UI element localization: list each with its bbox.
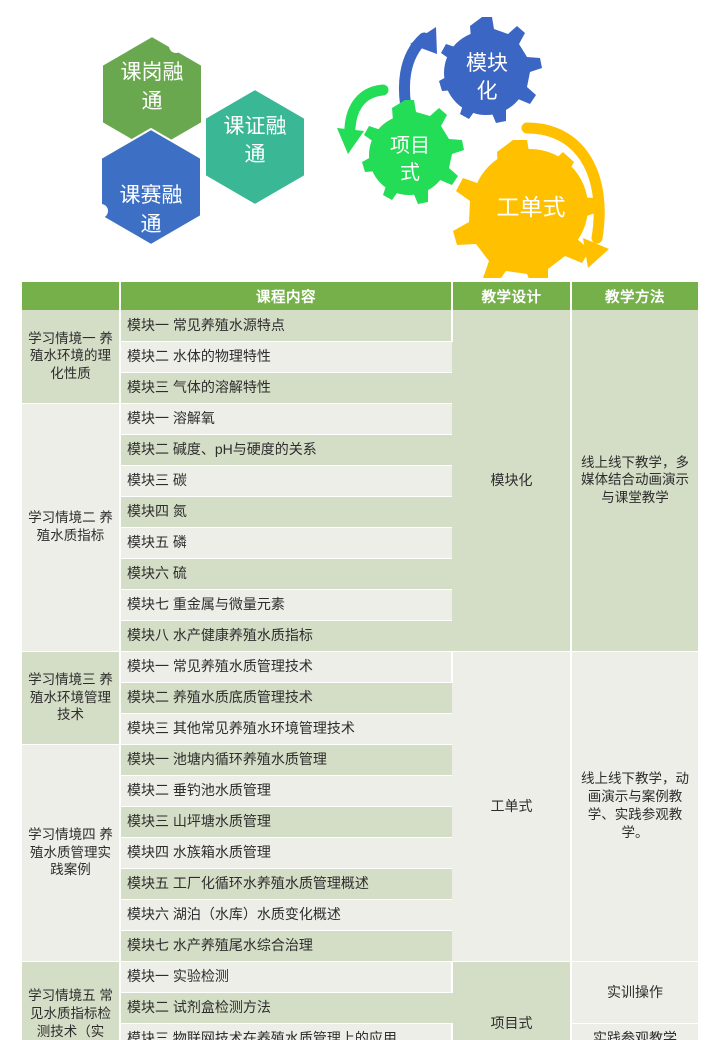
hexagon-label-line1: 课证融	[224, 115, 287, 138]
learning-situation-cell: 学习情境五 常见水质指标检测技术（实训）	[22, 961, 120, 1040]
table-header-row: 课程内容 教学设计 教学方法	[22, 282, 698, 310]
header-teaching-design: 教学设计	[452, 282, 571, 310]
learning-situation-cell: 学习情境二 养殖水质指标	[22, 403, 120, 651]
module-content-cell: 模块一 实验检测	[120, 961, 452, 992]
hexagon-ke-zheng-rong-tong: 课证融 通	[205, 89, 305, 205]
module-content-cell: 模块三 气体的溶解特性	[120, 372, 452, 403]
module-content-cell: 模块六 湖泊（水库）水质变化概述	[120, 899, 452, 930]
header-blank	[22, 282, 120, 310]
hexagon-label-line2: 通	[245, 143, 266, 166]
module-content-cell: 模块三 其他常见养殖水环境管理技术	[120, 713, 452, 744]
course-content-table: 课程内容 教学设计 教学方法 学习情境一 养殖水环境的理化性质模块一 常见养殖水…	[22, 282, 698, 1040]
learning-situation-cell: 学习情境四 养殖水质管理实践案例	[22, 744, 120, 961]
module-content-cell: 模块二 碱度、pH与硬度的关系	[120, 434, 452, 465]
module-content-cell: 模块三 碳	[120, 465, 452, 496]
concept-graphic: 课岗融 通 课证融 通 课赛融 通	[0, 0, 720, 278]
teaching-method-cell: 线上线下教学，动画演示与案例教学、实践参观教学。	[571, 651, 698, 961]
learning-situation-cell: 学习情境一 养殖水环境的理化性质	[22, 310, 120, 403]
module-content-cell: 模块五 工厂化循环水养殖水质管理概述	[120, 868, 452, 899]
hexagon-ke-sai-rong-tong: 课赛融 通	[94, 129, 201, 245]
module-content-cell: 模块一 池塘内循环养殖水质管理	[120, 744, 452, 775]
hexagon-label-line1: 课赛融	[120, 184, 183, 207]
table-row: 学习情境五 常见水质指标检测技术（实训）模块一 实验检测项目式实训操作	[22, 961, 698, 992]
teaching-design-cell: 模块化	[452, 310, 571, 651]
module-content-cell: 模块三 物联网技术在养殖水质管理上的应用	[120, 1023, 452, 1040]
gear-label-line1: 模块	[466, 52, 508, 75]
gear-label-line2: 式	[400, 161, 420, 184]
module-content-cell: 模块五 磷	[120, 527, 452, 558]
gear-label-line2: 化	[477, 80, 498, 103]
header-teaching-method: 教学方法	[571, 282, 698, 310]
gear-label-line1: 项目	[390, 135, 430, 157]
module-content-cell: 模块二 垂钓池水质管理	[120, 775, 452, 806]
table-row: 学习情境一 养殖水环境的理化性质模块一 常见养殖水源特点模块化线上线下教学，多媒…	[22, 310, 698, 341]
table-row: 模块三 物联网技术在养殖水质管理上的应用实践参观教学	[22, 1023, 698, 1040]
header-course-content: 课程内容	[120, 282, 452, 310]
module-content-cell: 模块一 常见养殖水质管理技术	[120, 651, 452, 682]
gear-xiang-mu-shi: 项目 式	[362, 100, 464, 204]
hexagon-label-line2: 通	[142, 90, 163, 113]
hexagon-label-line2: 通	[141, 213, 162, 236]
module-content-cell: 模块四 水族箱水质管理	[120, 837, 452, 868]
gear-mo-kuai-hua: 模块 化	[439, 17, 542, 123]
module-content-cell: 模块二 养殖水质底质管理技术	[120, 682, 452, 713]
module-content-cell: 模块一 溶解氧	[120, 403, 452, 434]
module-content-cell: 模块六 硫	[120, 558, 452, 589]
table-body: 学习情境一 养殖水环境的理化性质模块一 常见养殖水源特点模块化线上线下教学，多媒…	[22, 310, 698, 1040]
module-content-cell: 模块二 水体的物理特性	[120, 341, 452, 372]
module-content-cell: 模块一 常见养殖水源特点	[120, 310, 452, 341]
teaching-method-cell: 线上线下教学，多媒体结合动画演示与课堂教学	[571, 310, 698, 651]
learning-situation-cell: 学习情境三 养殖水环境管理技术	[22, 651, 120, 744]
table-row: 学习情境三 养殖水环境管理技术模块一 常见养殖水质管理技术工单式线上线下教学，动…	[22, 651, 698, 682]
teaching-design-cell: 工单式	[452, 651, 571, 961]
module-content-cell: 模块七 水产养殖尾水综合治理	[120, 930, 452, 961]
module-content-cell: 模块四 氮	[120, 496, 452, 527]
page-root: 课岗融 通 课证融 通 课赛融 通	[0, 0, 720, 1040]
module-content-cell: 模块八 水产健康养殖水质指标	[120, 620, 452, 651]
teaching-design-cell: 项目式	[452, 961, 571, 1040]
module-content-cell: 模块二 试剂盒检测方法	[120, 992, 452, 1023]
hexagon-label-line1: 课岗融	[121, 61, 184, 84]
gear-gong-dan-shi: 工单式	[453, 140, 598, 278]
module-content-cell: 模块七 重金属与微量元素	[120, 589, 452, 620]
teaching-method-cell: 实践参观教学	[571, 1023, 698, 1040]
module-content-cell: 模块三 山坪塘水质管理	[120, 806, 452, 837]
teaching-method-cell: 实训操作	[571, 961, 698, 1023]
gear-label-line1: 工单式	[497, 194, 566, 220]
